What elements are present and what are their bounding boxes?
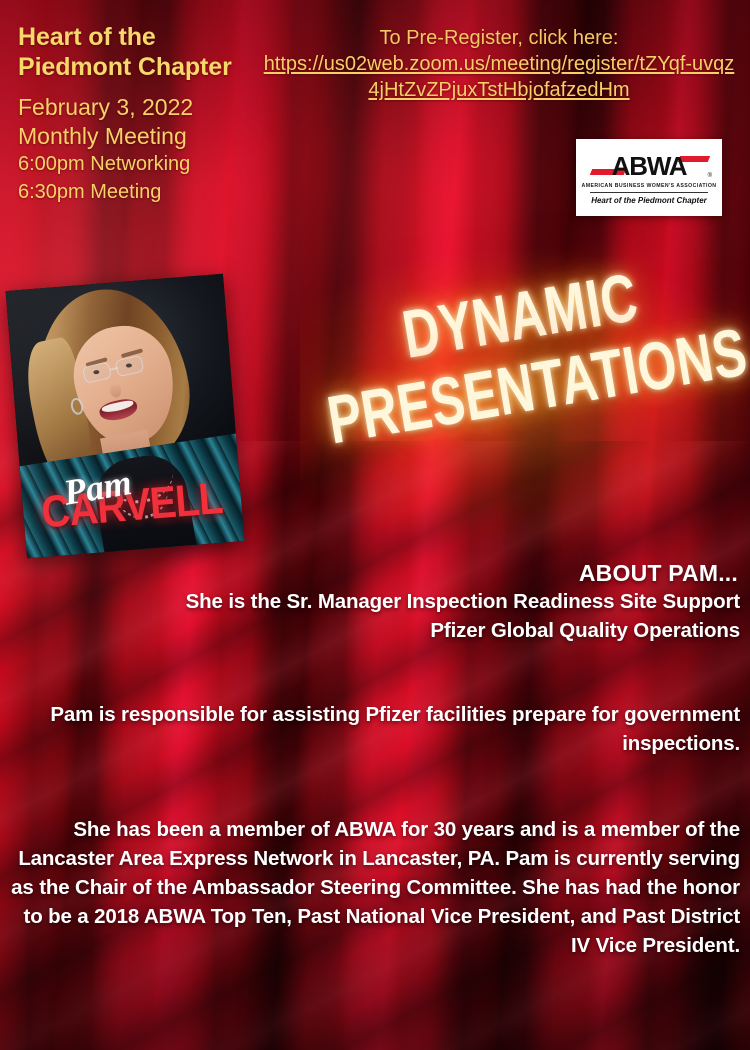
registration-link[interactable]: https://us02web.zoom.us/meeting/register… (260, 51, 738, 103)
abwa-association-name: AMERICAN BUSINESS WOMEN'S ASSOCIATION (582, 183, 717, 189)
logo-divider (590, 192, 708, 193)
about-role: She is the Sr. Manager Inspection Readin… (8, 587, 740, 645)
speaker-photo: CARVELL Pam (6, 274, 245, 559)
abwa-chapter-name: Heart of the Piedmont Chapter (591, 196, 707, 205)
about-role-line-2: Pfizer Global Quality Operations (8, 616, 740, 645)
meeting-time: 6:30pm Meeting (18, 179, 318, 207)
meeting-type: Monthly Meeting (18, 122, 318, 151)
networking-time: 6:00pm Networking (18, 151, 318, 179)
registered-trademark-icon: ® (708, 173, 712, 179)
event-flyer: Heart of the Piedmont Chapter February 3… (0, 0, 750, 1050)
about-heading: ABOUT PAM... (579, 560, 738, 587)
about-role-line-1: She is the Sr. Manager Inspection Readin… (8, 587, 740, 616)
registration-lead-text: To Pre-Register, click here: (260, 26, 738, 51)
abwa-wordmark: ABWA (612, 151, 687, 182)
abwa-logo-mark: ABWA ® (587, 150, 711, 182)
about-bio: She has been a member of ABWA for 30 yea… (8, 815, 740, 961)
registration-block: To Pre-Register, click here: https://us0… (260, 26, 738, 103)
abwa-logo: ABWA ® AMERICAN BUSINESS WOMEN'S ASSOCIA… (576, 139, 722, 216)
about-responsibility: Pam is responsible for assisting Pfizer … (8, 700, 740, 758)
